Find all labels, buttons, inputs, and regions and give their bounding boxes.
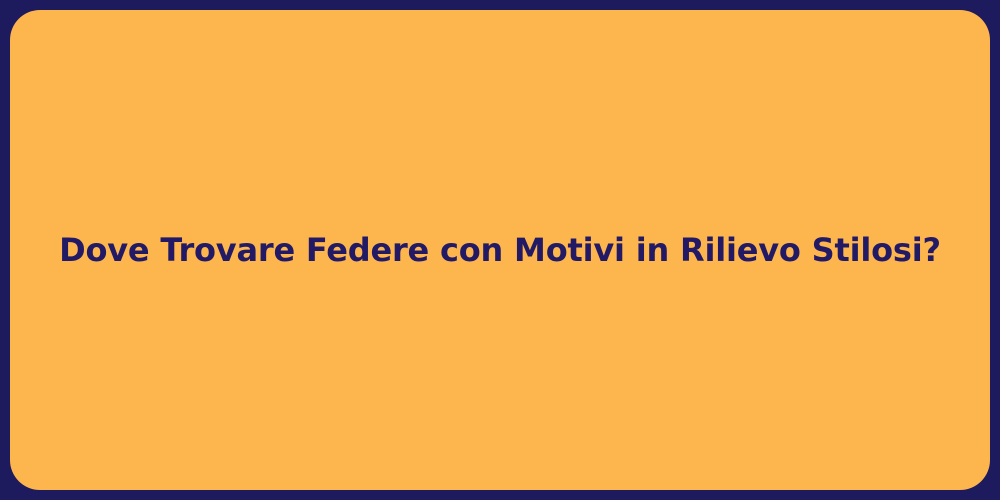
page-background: Dove Trovare Federe con Motivi in Riliev… [0,0,1000,500]
title-card: Dove Trovare Federe con Motivi in Riliev… [10,10,990,490]
card-title: Dove Trovare Federe con Motivi in Riliev… [19,230,981,270]
